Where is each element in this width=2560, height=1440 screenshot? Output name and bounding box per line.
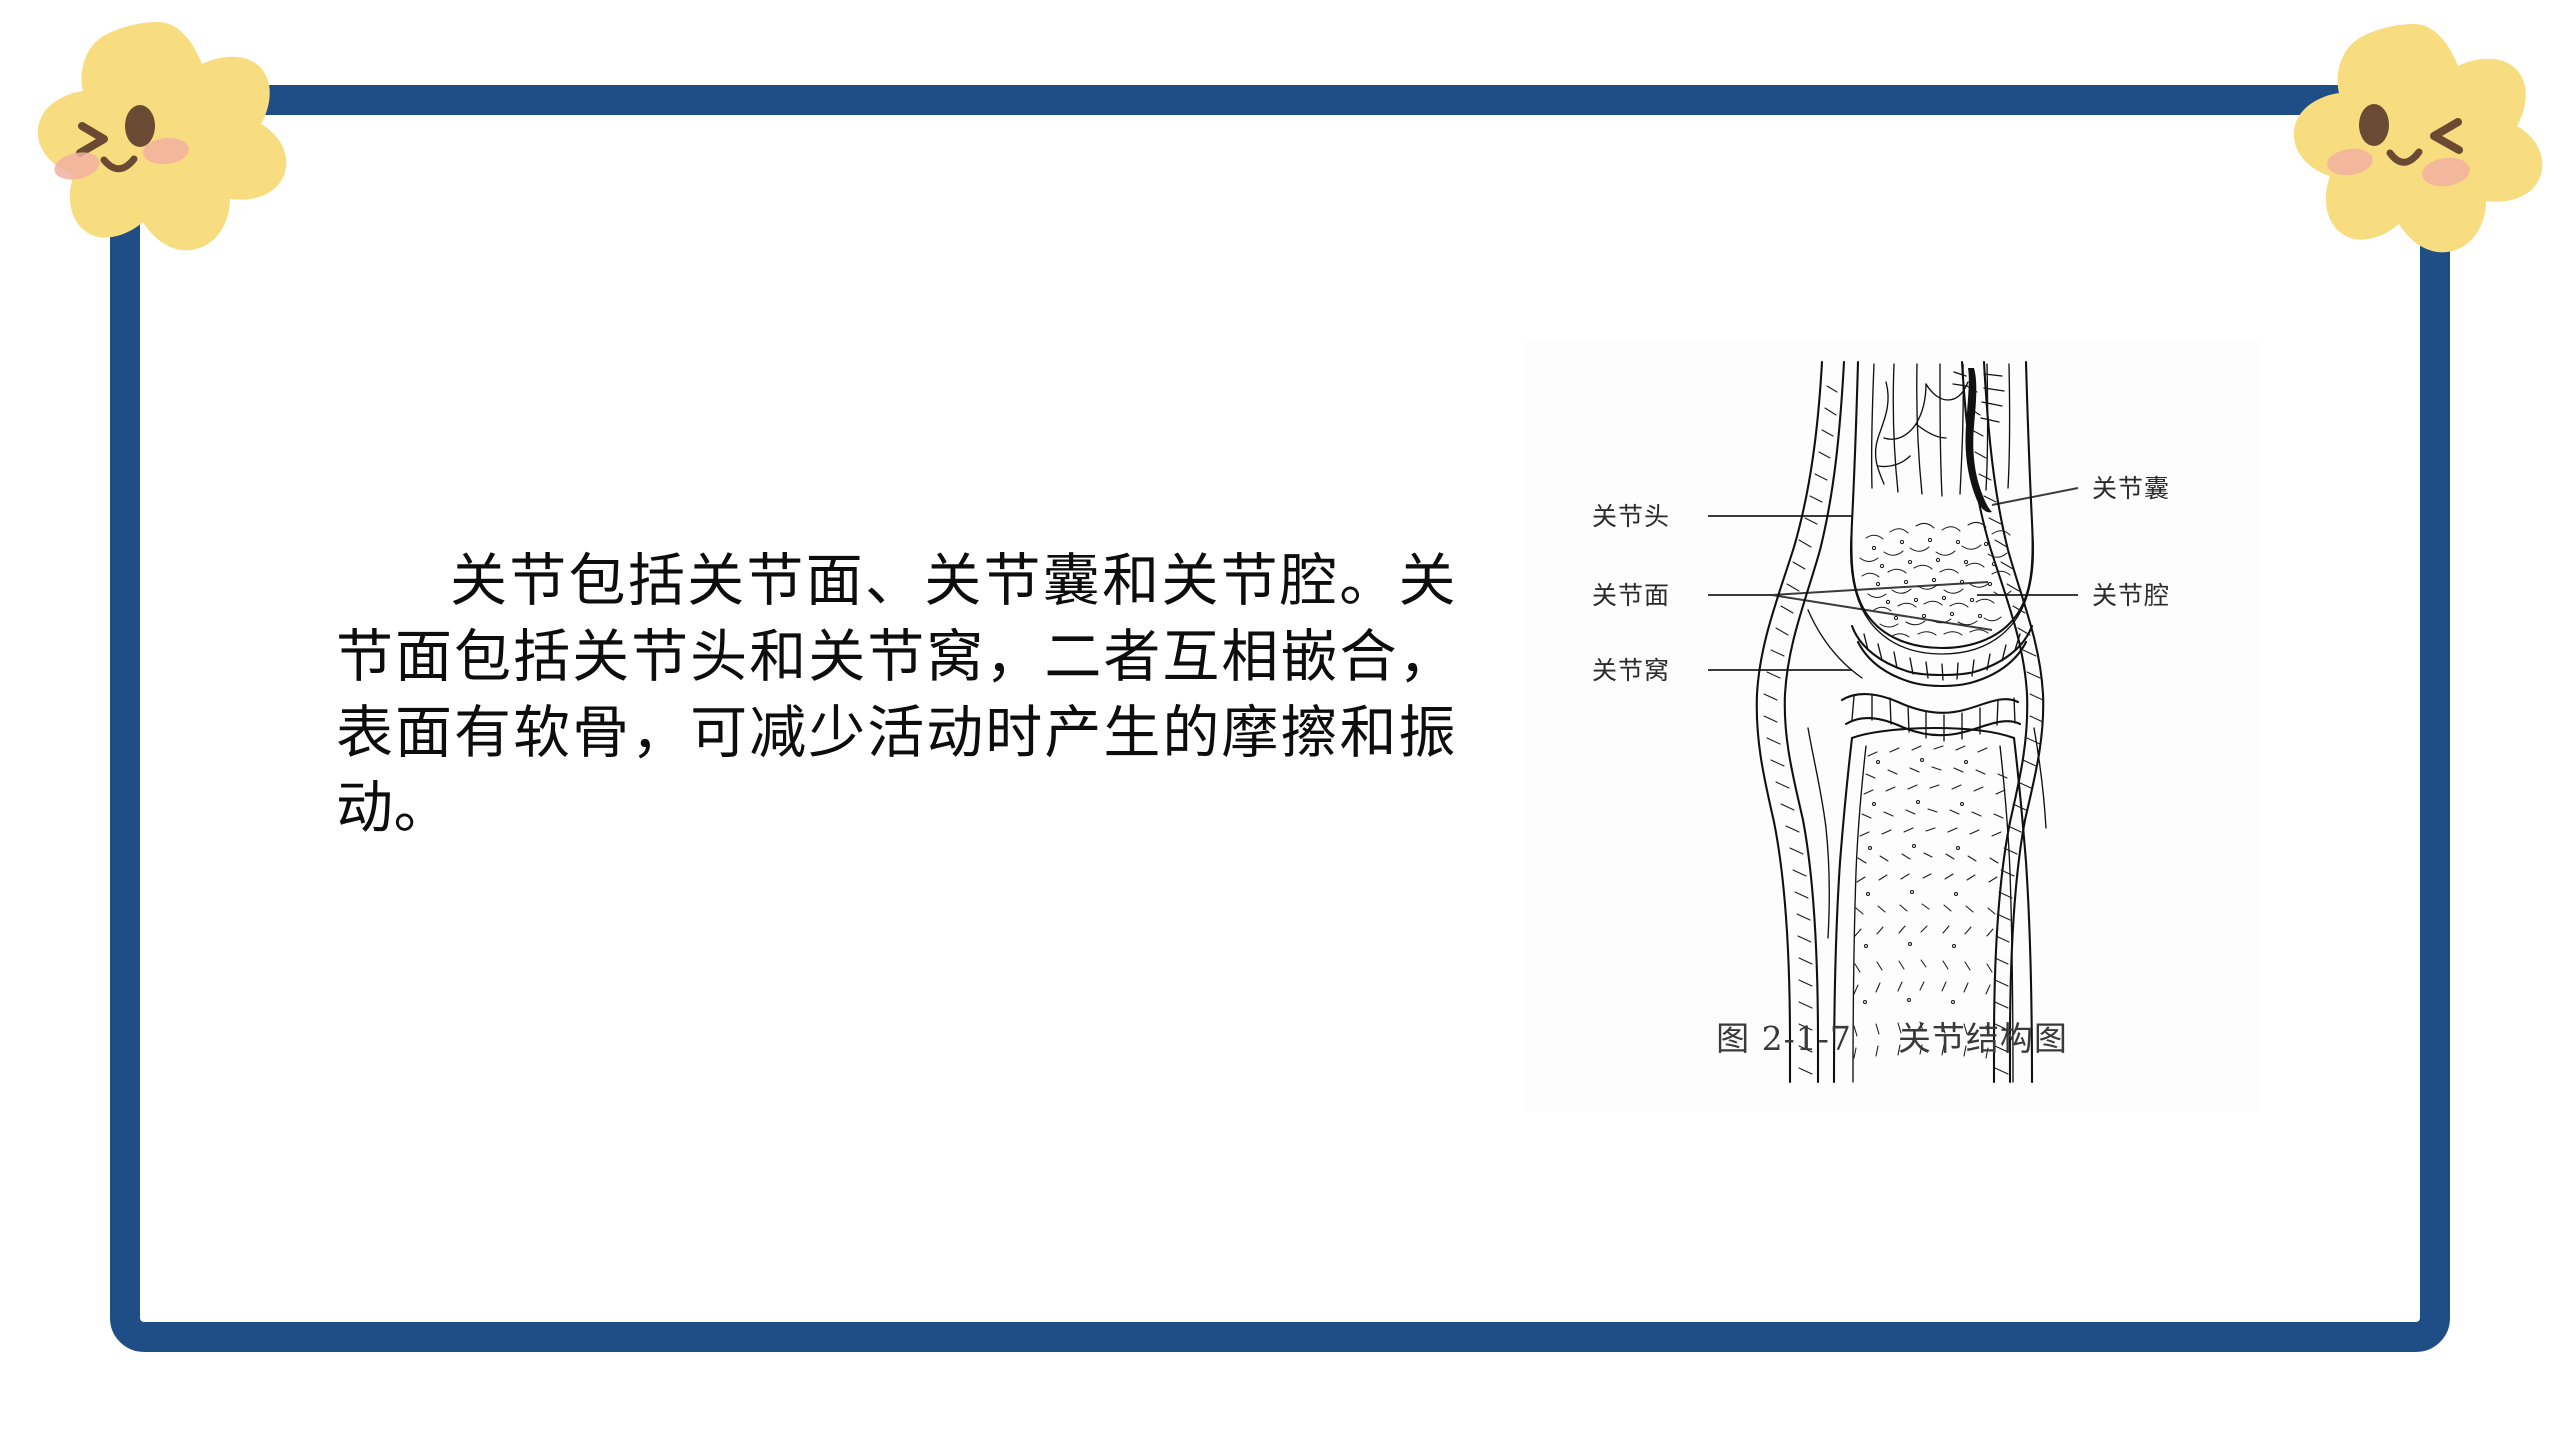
figure-label-joint-cavity: 关节腔 [2092, 581, 2170, 610]
slide-canvas: 关节包括关节面、关节囊和关节腔。关节面包括关节头和关节窝，二者互相嵌合，表面有软… [0, 0, 2560, 1440]
body-paragraph: 关节包括关节面、关节囊和关节腔。关节面包括关节头和关节窝，二者互相嵌合，表面有软… [336, 544, 1456, 847]
figure-label-joint-socket: 关节窝 [1592, 656, 1670, 685]
star-eye-open-icon [2359, 104, 2389, 146]
star-kawaii-wink-icon [2294, 24, 2543, 252]
star-decoration-top-right [2286, 10, 2546, 270]
figure-label-joint-surface: 关节面 [1592, 581, 1670, 610]
joint-structure-figure: 关节头 关节面 关节窝 关节囊 关节腔 [1522, 342, 2262, 1112]
figure-label-joint-head: 关节头 [1592, 502, 1670, 531]
star-kawaii-wink-icon [38, 22, 287, 250]
star-decoration-top-left [30, 8, 290, 268]
figure-label-joint-capsule: 关节囊 [2092, 474, 2170, 503]
star-eye-open-icon [125, 105, 155, 147]
figure-caption: 图 2-1-7 关节结构图 [1522, 1012, 2262, 1060]
joint-anatomy-drawing [1757, 362, 2046, 1082]
